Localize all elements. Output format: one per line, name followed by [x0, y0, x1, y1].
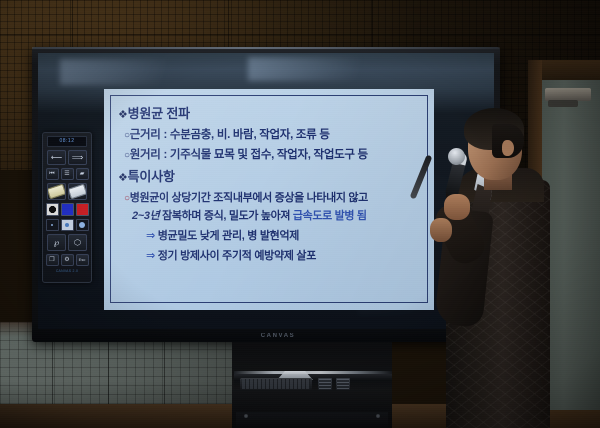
keyboard[interactable]	[240, 378, 312, 390]
wall-panel-seam	[0, 34, 600, 35]
pen-size-medium[interactable]	[61, 219, 74, 231]
undo-arrow-icon[interactable]: ⟵	[47, 150, 66, 165]
first-page-icon[interactable]: ⏮	[46, 168, 59, 180]
slide-body-line-1-text: 병원균이 상당기간 조직내부에서 증상을 나타내지 않고	[130, 192, 368, 204]
pen-size-small[interactable]	[46, 219, 59, 231]
toolbar-row-system: ❐ ⚙ Esc	[45, 254, 89, 266]
presenter-hand-mic	[444, 194, 470, 220]
remote-control-right[interactable]	[336, 378, 350, 390]
eraser-block-icon[interactable]	[68, 183, 87, 200]
diamond-bullet-icon: ❖	[118, 109, 128, 121]
toolbar-row-pen-sizes	[45, 219, 89, 231]
swatch-blue[interactable]	[61, 203, 74, 216]
slide-body-line-2-highlight: 급속도로 발병 됨	[293, 210, 367, 222]
diamond-bullet-icon: ❖	[118, 172, 128, 184]
stand-bolt	[244, 414, 248, 418]
slide-bullet-far-text: 원거리 : 기주식물 묘목 및 접수, 작업자, 작업도구 등	[130, 149, 368, 161]
slide-heading-1: ❖병원균 전파	[118, 103, 424, 122]
presentation-slide: ❖병원균 전파 ○근거리 : 수분곰충, 비. 바람, 작업자, 조류 등 ○원…	[104, 89, 434, 310]
slide-duration-emphasis: 2~3년	[132, 210, 159, 222]
screen-glare	[248, 57, 408, 81]
slide-bullet-near: ○근거리 : 수분곰충, 비. 바람, 작업자, 조류 등	[124, 126, 424, 142]
screen-glare	[60, 59, 210, 85]
slide-heading-1-text: 병원균 전파	[128, 106, 190, 121]
presenter-ear	[502, 140, 514, 156]
toolbar-row-pens	[45, 183, 89, 200]
slide-body-line-2-text: 잠복하며 증식, 밀도가 높아져	[159, 210, 292, 222]
eraser-tool-icon[interactable]: ▰	[76, 168, 89, 180]
toolbar-footer-label: CANVAS 2.0	[45, 269, 89, 273]
redo-arrow-icon[interactable]: ⟹	[68, 150, 87, 165]
slide-bullet-near-text: 근거리 : 수분곰충, 비. 바람, 작업자, 조류 등	[130, 129, 330, 141]
slide-heading-2-text: 특이사항	[128, 169, 175, 184]
annotation-toolbar[interactable]: 08:12 ⟵ ⟹ ⏮ ☰ ▰ ℘ ⬡ ❐	[42, 132, 92, 283]
remote-control-left[interactable]	[318, 378, 332, 390]
double-arrow-icon: ⇒	[146, 230, 155, 242]
stand-base	[236, 412, 388, 428]
dot-glyph	[65, 223, 69, 227]
double-arrow-icon: ⇒	[146, 250, 155, 262]
slide-body-line-1: ○병원균이 상당기간 조직내부에서 증상을 나타내지 않고	[124, 189, 424, 205]
stand-bolt	[376, 414, 380, 418]
toolbar-row-navigation: ⟵ ⟹	[45, 150, 89, 165]
slide-arrow-line-2-text: 정기 방제사이 주기적 예방약제 살포	[158, 250, 316, 262]
pen-yellow-glyph	[47, 184, 66, 200]
shelf-edge	[234, 371, 392, 374]
exit-button[interactable]: Esc	[76, 254, 89, 266]
presenter-hand-pointer	[430, 218, 452, 242]
presenter-speaker	[432, 106, 550, 428]
toolbar-clock: 08:12	[47, 136, 87, 147]
dot-glyph	[51, 224, 53, 226]
slide-arrow-line-2: ⇒ 정기 방제사이 주기적 예방약제 살포	[146, 247, 424, 263]
dot-glyph	[79, 222, 85, 228]
pen-size-large[interactable]	[76, 219, 89, 231]
toolbar-row-view: ⏮ ☰ ▰	[45, 168, 89, 180]
toolbar-row-colors	[45, 203, 89, 216]
settings-gear-icon[interactable]: ⚙	[61, 254, 74, 266]
slide-bullet-far: ○원거리 : 기주식물 묘목 및 접수, 작업자, 작업도구 등	[124, 146, 424, 162]
slide-arrow-line-1-text: 병균밀도 낮게 관리, 병 발현억제	[158, 230, 299, 242]
toolbar-row-objects: ℘ ⬡	[45, 234, 89, 251]
eraser-white-glyph	[68, 184, 87, 200]
slide-content: ❖병원균 전파 ○근거리 : 수분곰충, 비. 바람, 작업자, 조류 등 ○원…	[118, 101, 424, 300]
display-brand-logo: CANVAS	[250, 331, 306, 340]
door-closer-arm	[548, 100, 578, 107]
grid-view-icon[interactable]: ☰	[61, 168, 74, 180]
slide-heading-2: ❖특이사항	[118, 166, 424, 185]
lecture-room-photo: CANVAS ❖병원균 전파 ○근거리 : 수분곰충, 비. 바람, 작업자, …	[0, 0, 600, 428]
swatch-black-white[interactable]	[46, 203, 59, 216]
slide-arrow-line-1: ⇒ 병균밀도 낮게 관리, 병 발현억제	[146, 227, 424, 243]
select-lasso-icon[interactable]: ℘	[47, 234, 66, 251]
slide-body-line-2: 2~3년 잠복하며 증식, 밀도가 높아져 급속도로 발병 됨	[132, 207, 424, 223]
shapes-3d-icon[interactable]: ⬡	[68, 234, 87, 251]
pages-icon[interactable]: ❐	[46, 254, 59, 266]
highlighter-pen-icon[interactable]	[47, 183, 66, 200]
swatch-red[interactable]	[76, 203, 89, 216]
